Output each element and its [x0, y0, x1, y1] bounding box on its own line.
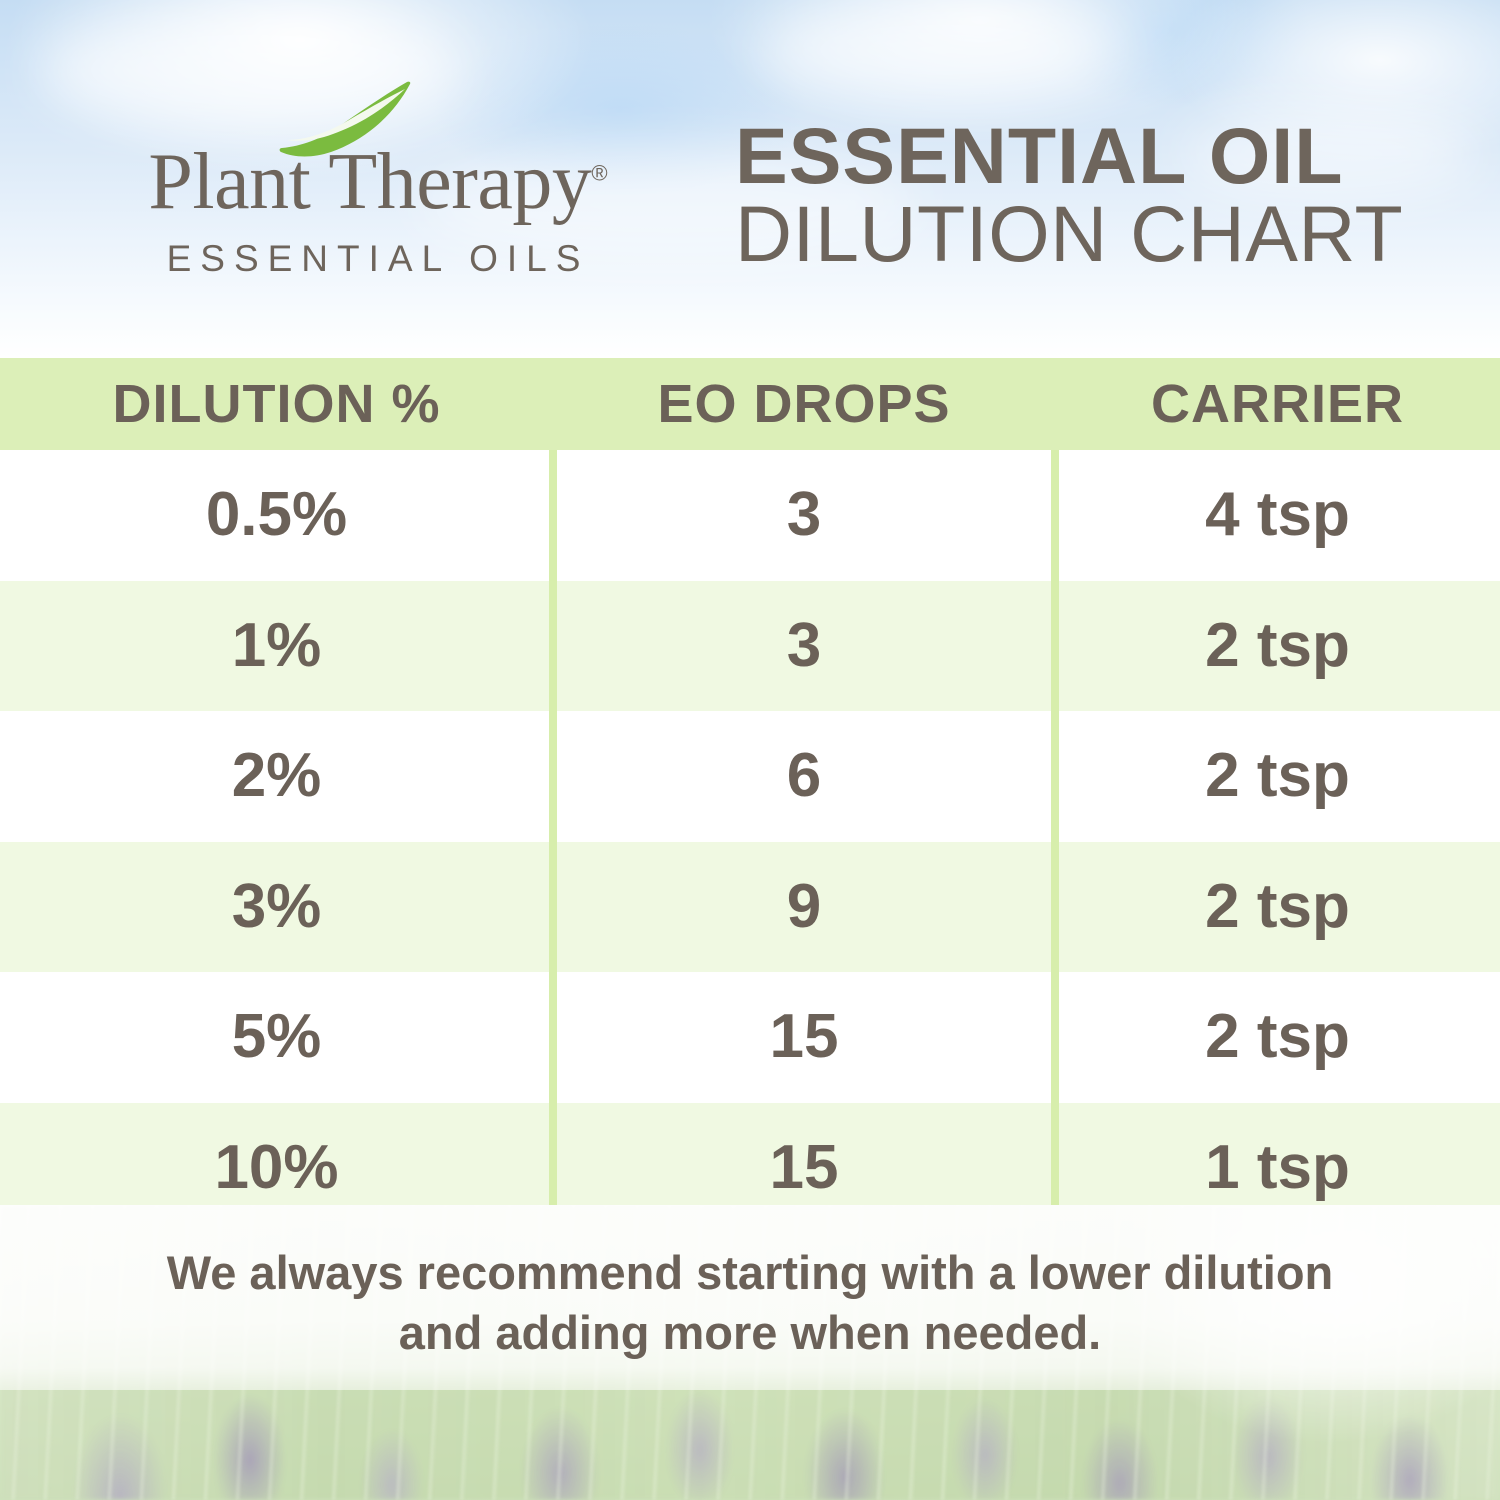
table-row: 3% 9 2 tsp	[0, 842, 1500, 973]
brand-wordmark-text: Plant Therapy	[148, 138, 591, 226]
footer-lavender-banner: We always recommend starting with a lowe…	[0, 1205, 1500, 1500]
registered-trademark-icon: ®	[591, 160, 607, 185]
page-title-line-1: ESSENTIAL OIL	[735, 118, 1455, 194]
brand-wordmark: Plant Therapy®	[88, 142, 668, 222]
cell-drops: 15	[553, 972, 1055, 1103]
cell-carrier: 2 tsp	[1055, 581, 1500, 712]
cell-drops: 3	[553, 450, 1055, 581]
cell-dilution: 5%	[0, 972, 553, 1103]
table-row: 2% 6 2 tsp	[0, 711, 1500, 842]
header-sky-banner: Plant Therapy® ESSENTIAL OILS ESSENTIAL …	[0, 0, 1500, 358]
table-row: 1% 3 2 tsp	[0, 581, 1500, 712]
cell-drops: 3	[553, 581, 1055, 712]
cell-drops: 9	[553, 842, 1055, 973]
brand-tagline: ESSENTIAL OILS	[88, 238, 668, 280]
table-header-row: DILUTION % EO DROPS CARRIER	[0, 358, 1500, 450]
column-divider	[549, 450, 557, 1205]
dilution-chart-poster: Plant Therapy® ESSENTIAL OILS ESSENTIAL …	[0, 0, 1500, 1500]
cloud-wisp-icon	[760, 0, 1120, 100]
column-divider	[1051, 450, 1059, 1205]
cell-dilution: 1%	[0, 581, 553, 712]
footer-note: We always recommend starting with a lowe…	[140, 1243, 1360, 1363]
cell-dilution: 2%	[0, 711, 553, 842]
cell-carrier: 2 tsp	[1055, 972, 1500, 1103]
cell-drops: 6	[553, 711, 1055, 842]
table-row: 5% 15 2 tsp	[0, 972, 1500, 1103]
column-header-eo-drops: EO DROPS	[553, 358, 1055, 450]
dilution-table: DILUTION % EO DROPS CARRIER 0.5% 3 4 tsp…	[0, 358, 1500, 1205]
cell-carrier: 4 tsp	[1055, 450, 1500, 581]
page-title-line-2: DILUTION CHART	[735, 194, 1455, 273]
column-header-carrier: CARRIER	[1055, 358, 1500, 450]
cell-carrier: 2 tsp	[1055, 711, 1500, 842]
page-title: ESSENTIAL OIL DILUTION CHART	[735, 118, 1455, 273]
column-header-dilution: DILUTION %	[0, 358, 553, 450]
cell-dilution: 0.5%	[0, 450, 553, 581]
table-row: 0.5% 3 4 tsp	[0, 450, 1500, 581]
cell-dilution: 3%	[0, 842, 553, 973]
cell-carrier: 2 tsp	[1055, 842, 1500, 973]
